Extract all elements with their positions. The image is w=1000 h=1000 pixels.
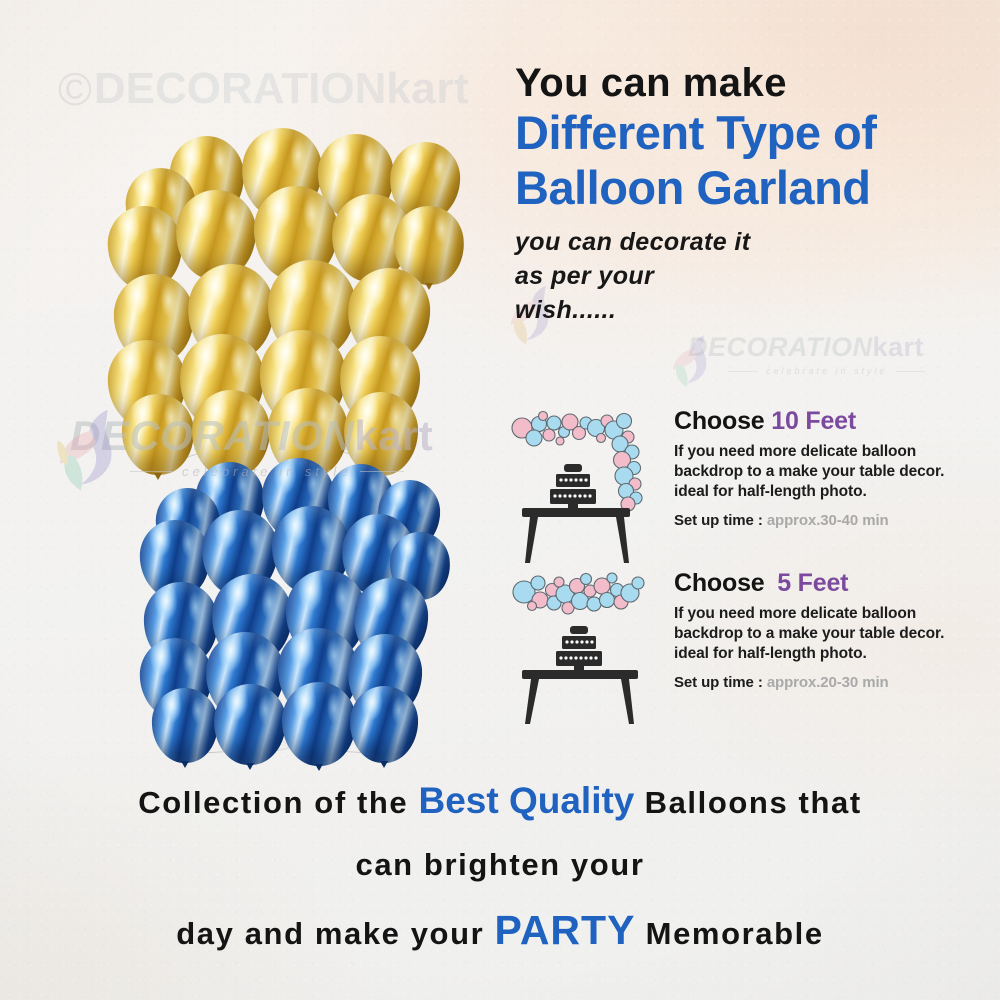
poster-canvas: © DECORATION kart DECORATION kart celebr… <box>0 0 1000 1000</box>
background-vignette <box>0 0 1000 1000</box>
